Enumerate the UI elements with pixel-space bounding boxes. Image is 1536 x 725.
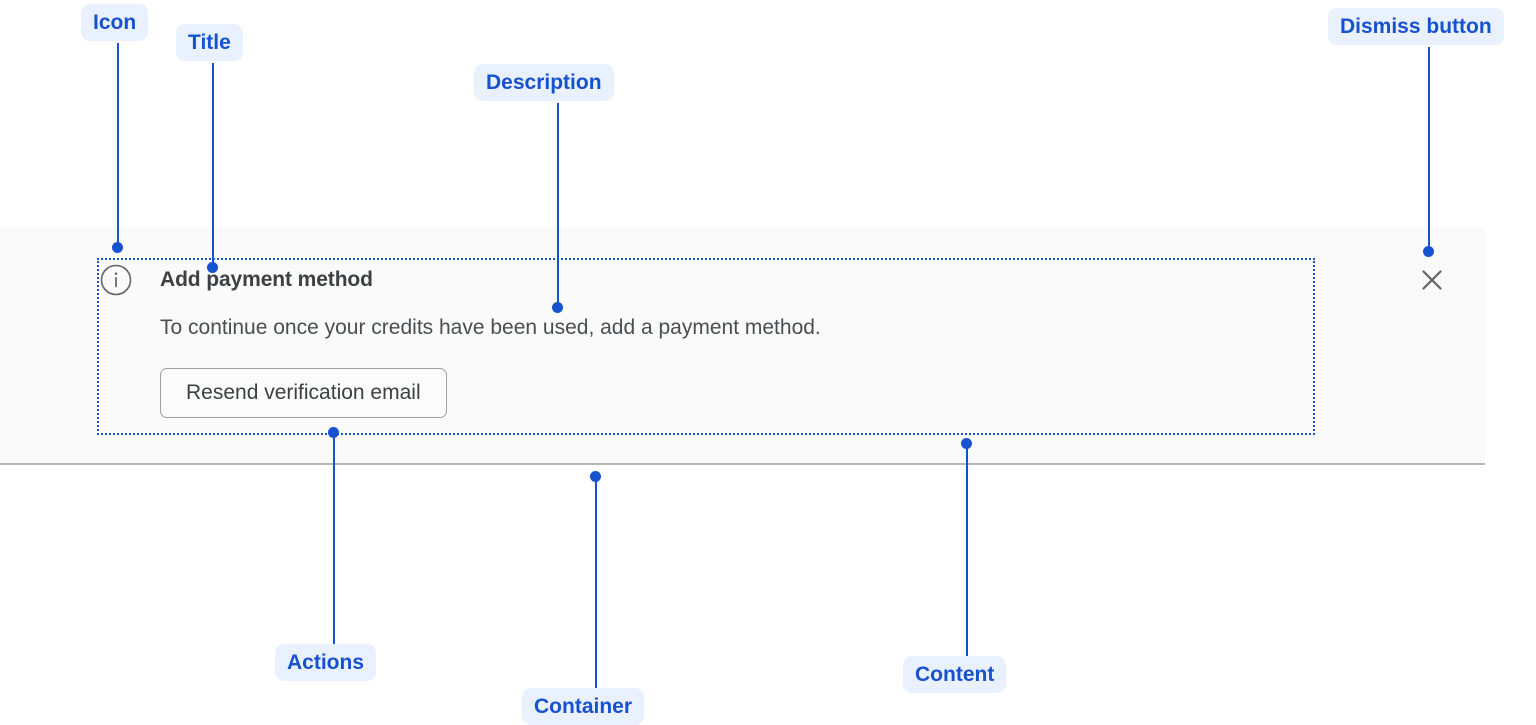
annotation-label-container: Container <box>522 688 644 725</box>
banner-description: To continue once your credits have been … <box>160 294 1315 342</box>
close-icon <box>1416 264 1448 296</box>
leader-line-actions <box>333 437 335 644</box>
resend-verification-email-button[interactable]: Resend verification email <box>160 368 447 418</box>
banner-text-block: Add payment method To continue once your… <box>160 258 1315 418</box>
leader-line-container <box>595 481 597 688</box>
leader-line-content <box>966 448 968 656</box>
leader-line-icon <box>117 43 119 248</box>
banner-content: Add payment method To continue once your… <box>97 258 1315 435</box>
notification-banner-container: Add payment method To continue once your… <box>0 228 1485 465</box>
annotation-label-title: Title <box>176 24 243 61</box>
leader-dot-container <box>590 471 601 482</box>
annotation-label-icon: Icon <box>81 4 148 41</box>
annotation-label-description: Description <box>474 64 614 101</box>
leader-line-dismiss-button <box>1428 47 1430 252</box>
banner-title: Add payment method <box>160 258 1315 294</box>
annotation-label-dismiss-button: Dismiss button <box>1328 8 1504 45</box>
annotation-label-actions: Actions <box>275 644 376 681</box>
info-circle-icon <box>100 264 132 296</box>
banner-actions: Resend verification email <box>160 342 1315 418</box>
annotation-label-content: Content <box>903 656 1006 693</box>
dismiss-button[interactable] <box>1416 264 1448 296</box>
